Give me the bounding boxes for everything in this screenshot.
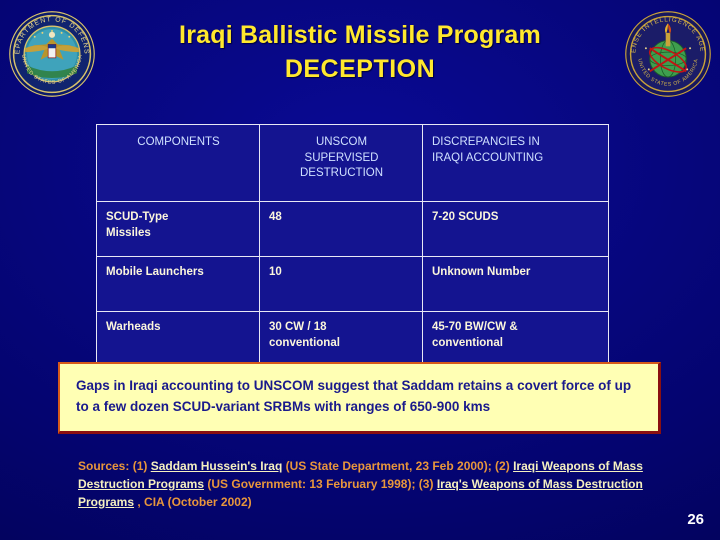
source-2-number: (2) [495,459,510,473]
dod-seal-icon: DEPARTMENT OF DEFENSE UNITED STATES OF A… [4,6,100,102]
cell-component-line1: Warheads [106,321,161,333]
cell-component: Warheads [97,312,260,367]
cell-destroyed: 10 [260,257,423,312]
cell-destroyed-line1: 30 CW / 18 [269,321,327,333]
cell-destroyed: 48 [260,202,423,257]
deception-table: COMPONENTS UNSCOM SUPERVISED DESTRUCTION… [96,124,609,367]
cell-discrepancy: 7-20 SCUDS [423,202,609,257]
cell-component-line1: Mobile Launchers [106,266,204,278]
source-2-publisher: (US Government: 13 February 1998); [207,477,415,491]
cell-component: SCUD-Type Missiles [97,202,260,257]
table-header-row: COMPONENTS UNSCOM SUPERVISED DESTRUCTION… [97,125,609,202]
cell-discrepancy-line1: 45-70 BW/CW & [432,321,518,333]
cell-component: Mobile Launchers [97,257,260,312]
cell-component-line1: SCUD-Type [106,211,168,223]
sources-label: Sources: [78,459,129,473]
header-unscom-line2: SUPERVISED [269,151,414,167]
cell-discrepancy-line1: Unknown Number [432,266,530,278]
header-discrepancies: DISCREPANCIES IN IRAQI ACCOUNTING [423,125,609,202]
cell-discrepancy-line2: conventional [432,336,600,352]
deception-table-wrapper: COMPONENTS UNSCOM SUPERVISED DESTRUCTION… [96,124,608,367]
header-discrepancies-line1: DISCREPANCIES IN [432,135,600,151]
source-3-publisher: , CIA (October 2002) [137,495,251,509]
cell-destroyed-value: 10 [269,266,282,278]
cell-destroyed: 30 CW / 18 conventional [260,312,423,367]
header-discrepancies-line2: IRAQI ACCOUNTING [432,151,600,167]
table-row: SCUD-Type Missiles 48 7-20 SCUDS [97,202,609,257]
header-unscom-destruction: UNSCOM SUPERVISED DESTRUCTION [260,125,423,202]
page-subtitle: DECEPTION [110,55,610,84]
header-unscom-line1: UNSCOM [269,135,414,151]
source-1-number: (1) [133,459,148,473]
header-components-text: COMPONENTS [106,135,251,151]
source-1-publisher: (US State Department, 23 Feb 2000); [286,459,492,473]
slide-canvas: DEPARTMENT OF DEFENSE UNITED STATES OF A… [0,0,720,540]
header-components: COMPONENTS [97,125,260,202]
cell-discrepancy-line1: 7-20 SCUDS [432,211,498,223]
callout-text: Gaps in Iraqi accounting to UNSCOM sugge… [76,376,644,417]
source-3-number: (3) [419,477,434,491]
table-row: Mobile Launchers 10 Unknown Number [97,257,609,312]
source-1-title: Saddam Hussein's Iraq [151,459,283,473]
page-number: 26 [687,511,704,528]
cell-component-line2: Missiles [106,226,251,242]
dia-seal-icon: DEFENSE INTELLIGENCE AGENCY UNITED STATE… [620,6,716,102]
table-row: Warheads 30 CW / 18 conventional 45-70 B… [97,312,609,367]
title-block: Iraqi Ballistic Missile Program DECEPTIO… [110,22,610,84]
header-unscom-line3: DESTRUCTION [269,166,414,182]
page-title: Iraqi Ballistic Missile Program [110,22,610,49]
cell-discrepancy: Unknown Number [423,257,609,312]
cell-destroyed-line2: conventional [269,336,414,352]
sources-block: Sources: (1) Saddam Hussein's Iraq (US S… [78,458,658,511]
key-judgment-callout: Gaps in Iraqi accounting to UNSCOM sugge… [58,362,661,434]
cell-discrepancy: 45-70 BW/CW & conventional [423,312,609,367]
cell-destroyed-value: 48 [269,211,282,223]
